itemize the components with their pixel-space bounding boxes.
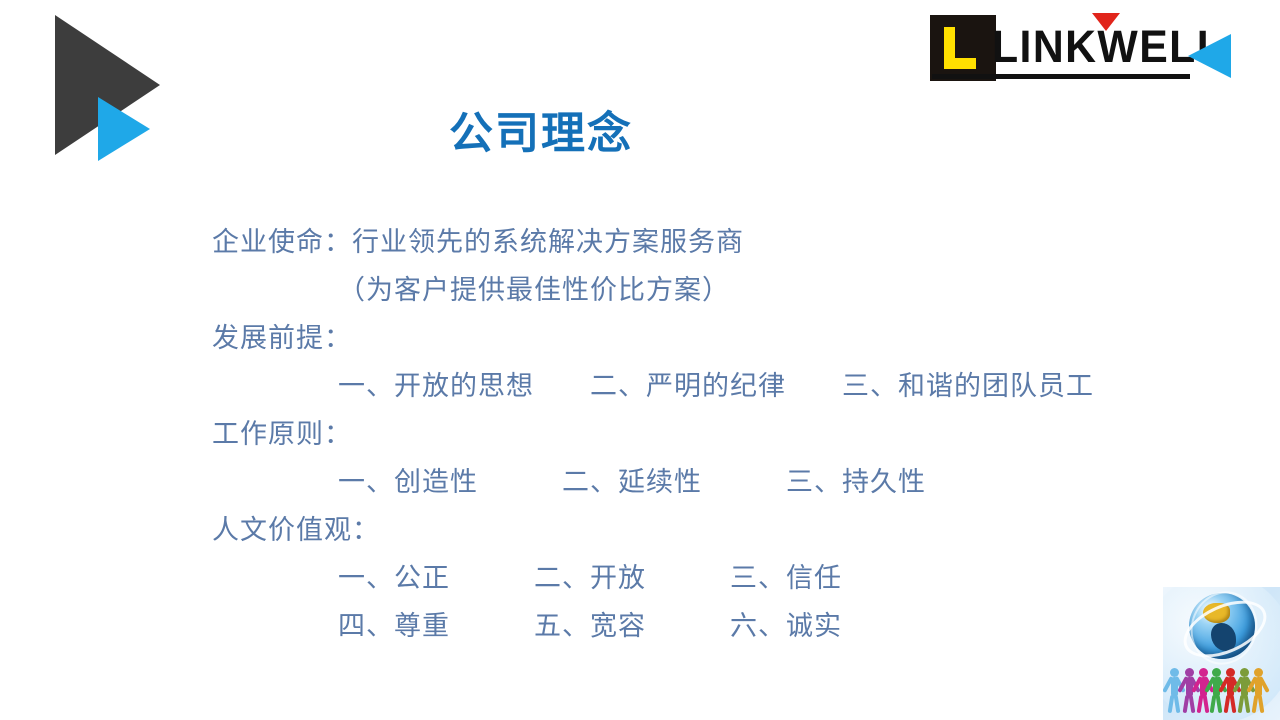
body-text-block: 企业使命：行业领先的系统解决方案服务商 （为客户提供最佳性价比方案） 发展前提：…	[212, 218, 1212, 650]
logo-badge	[930, 15, 996, 81]
body-line: 发展前提：	[212, 314, 1212, 362]
body-line: 四、尊重 五、宽容 六、诚实	[212, 602, 1212, 650]
logo-red-triangle-icon	[1092, 13, 1120, 31]
logo-letter-l-icon	[944, 27, 976, 69]
body-line: 工作原则：	[212, 410, 1212, 458]
linkwell-logo: LINKWELL	[930, 12, 1235, 84]
page-title: 公司理念	[0, 108, 1082, 160]
body-line: 人文价值观：	[212, 506, 1212, 554]
body-line: 企业使命：行业领先的系统解决方案服务商	[212, 218, 1212, 266]
logo-blue-triangle-icon	[1188, 34, 1231, 78]
person-figure	[1251, 668, 1266, 716]
body-line: 一、创造性 二、延续性 三、持久性	[212, 458, 1212, 506]
globe-teamwork-image	[1163, 587, 1280, 720]
slide-canvas: LINKWELL 公司理念 企业使命：行业领先的系统解决方案服务商 （为客户提供…	[0, 0, 1280, 720]
body-line: （为客户提供最佳性价比方案）	[212, 266, 1212, 314]
logo-underline	[932, 74, 1190, 79]
body-line: 一、开放的思想 二、严明的纪律 三、和谐的团队员工	[212, 362, 1212, 410]
body-line: 一、公正 二、开放 三、信任	[212, 554, 1212, 602]
